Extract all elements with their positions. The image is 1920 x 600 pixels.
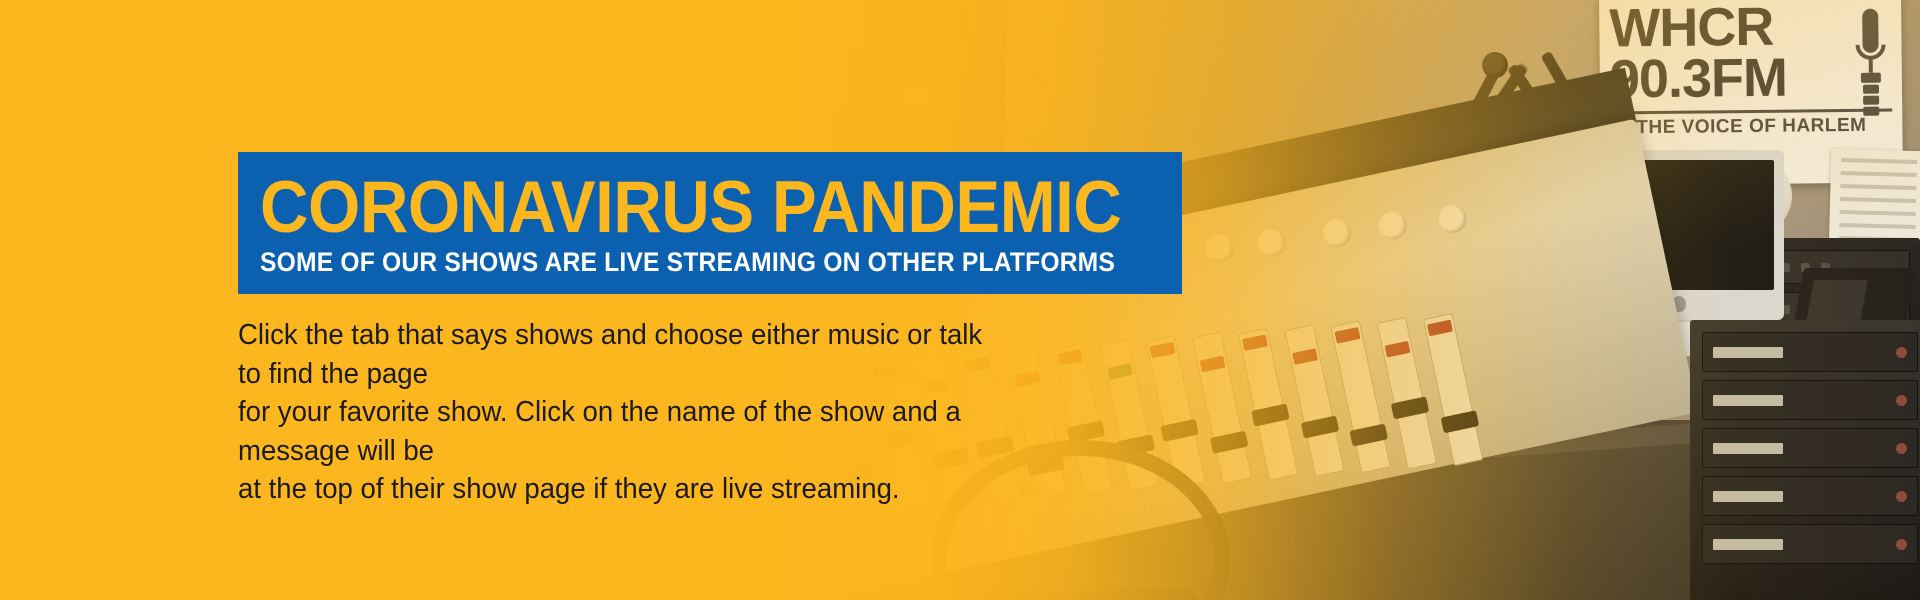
promo-banner: WHCR 90.3FM THE VOICE OF HARLEM bbox=[0, 0, 1920, 600]
poster-call-letters: WHCR bbox=[1609, 1, 1892, 55]
body-line-2: for your favorite show. Click on the nam… bbox=[238, 393, 998, 470]
headline-box: CORONAVIRUS PANDEMIC SOME OF OUR SHOWS A… bbox=[238, 152, 1182, 294]
poster-frequency: 90.3FM bbox=[1610, 52, 1893, 106]
body-copy: Click the tab that says shows and choose… bbox=[238, 316, 998, 509]
speaker-indicator bbox=[908, 92, 924, 101]
poster-tagline: THE VOICE OF HARLEM bbox=[1610, 108, 1892, 139]
microphone-icon bbox=[1853, 5, 1888, 125]
equipment-rack-lower bbox=[1690, 320, 1920, 600]
body-line-3: at the top of their show page if they ar… bbox=[238, 470, 998, 509]
banner-content: CORONAVIRUS PANDEMIC SOME OF OUR SHOWS A… bbox=[238, 152, 1238, 509]
page-title: CORONAVIRUS PANDEMIC bbox=[260, 174, 1088, 241]
mic-boom-joint bbox=[1482, 52, 1508, 78]
subtitle: SOME OF OUR SHOWS ARE LIVE STREAMING ON … bbox=[260, 247, 1097, 278]
body-line-1: Click the tab that says shows and choose… bbox=[238, 316, 998, 393]
